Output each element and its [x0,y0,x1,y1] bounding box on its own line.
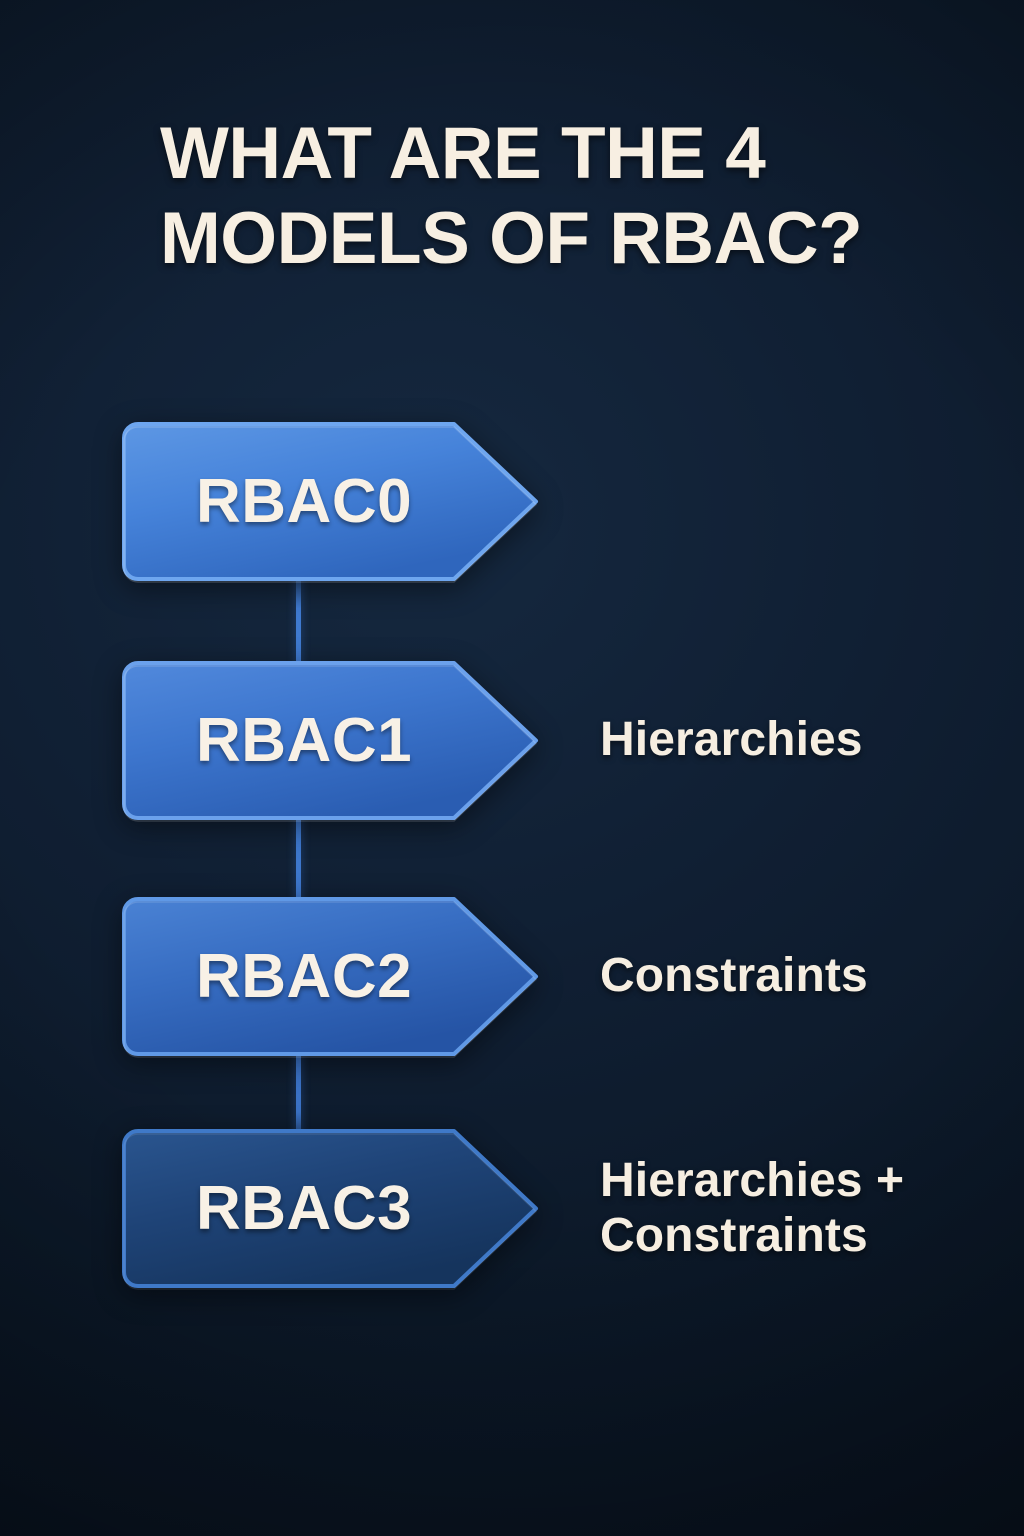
model-row-rbac2: RBAC2 Constraints [0,893,1024,1060]
arrow-shape-rbac3[interactable]: RBAC3 [118,1125,542,1292]
page-title-line-1: WHAT ARE THE 4 [160,112,960,197]
model-label-rbac1: RBAC1 [118,657,478,824]
model-description-rbac2: Constraints [600,949,868,1003]
arrow-shape-rbac0[interactable]: RBAC0 [118,418,542,585]
model-label-rbac0: RBAC0 [118,418,478,585]
arrow-shape-rbac1[interactable]: RBAC1 [118,657,542,824]
vertical-connector-line [296,560,301,1160]
model-row-rbac0: RBAC0 [0,418,1024,585]
model-description-rbac3: Hierarchies + Constraints [600,1154,904,1262]
arrow-shape-rbac2[interactable]: RBAC2 [118,893,542,1060]
model-row-rbac3: RBAC3 Hierarchies + Constraints [0,1125,1024,1292]
model-label-rbac3: RBAC3 [118,1125,478,1292]
model-row-rbac1: RBAC1 Hierarchies [0,657,1024,824]
model-label-rbac2: RBAC2 [118,893,478,1060]
page-title: WHAT ARE THE 4 MODELS OF RBAC? [160,112,960,281]
model-description-rbac1: Hierarchies [600,713,863,767]
page-title-line-2: MODELS OF RBAC? [160,197,960,282]
